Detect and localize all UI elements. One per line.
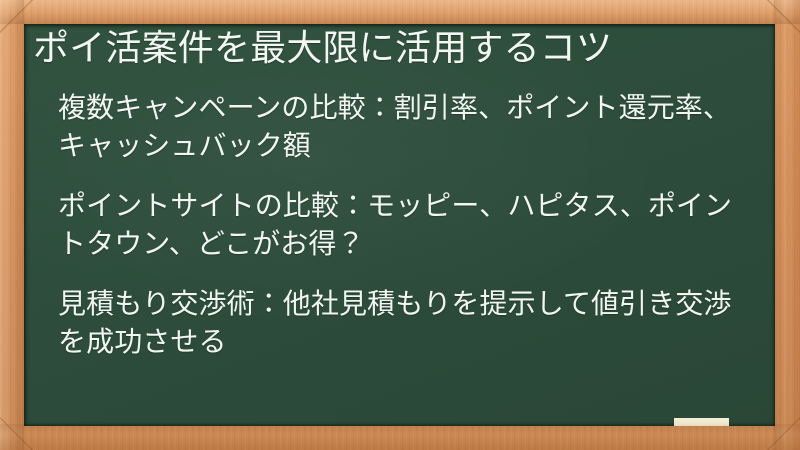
board-content: ポイ活案件を最大限に活用するコツ 複数キャンペーンの比較：割引率、ポイント還元率… <box>33 26 757 361</box>
bullet-item: 複数キャンペーンの比較：割引率、ポイント還元率、キャッシュバック額 <box>58 89 757 165</box>
frame-edge-right <box>774 0 800 450</box>
blackboard-slide: ポイ活案件を最大限に活用するコツ 複数キャンペーンの比較：割引率、ポイント還元率… <box>0 0 800 450</box>
frame-edge-bottom <box>0 424 800 450</box>
bullet-list: 複数キャンペーンの比較：割引率、ポイント還元率、キャッシュバック額 ポイントサイ… <box>33 89 757 361</box>
slide-title: ポイ活案件を最大限に活用するコツ <box>33 26 757 72</box>
frame-edge-left <box>0 0 24 450</box>
chalk-eraser-icon <box>674 418 729 426</box>
bullet-item: 見積もり交渉術：他社見積もりを提示して値引き交渉を成功させる <box>58 285 757 361</box>
chalkboard-surface: ポイ活案件を最大限に活用するコツ 複数キャンペーンの比較：割引率、ポイント還元率… <box>24 24 775 426</box>
bullet-item: ポイントサイトの比較：モッピー、ハピタス、ポイントタウン、どこがお得？ <box>58 187 757 263</box>
frame-edge-top <box>0 0 800 24</box>
